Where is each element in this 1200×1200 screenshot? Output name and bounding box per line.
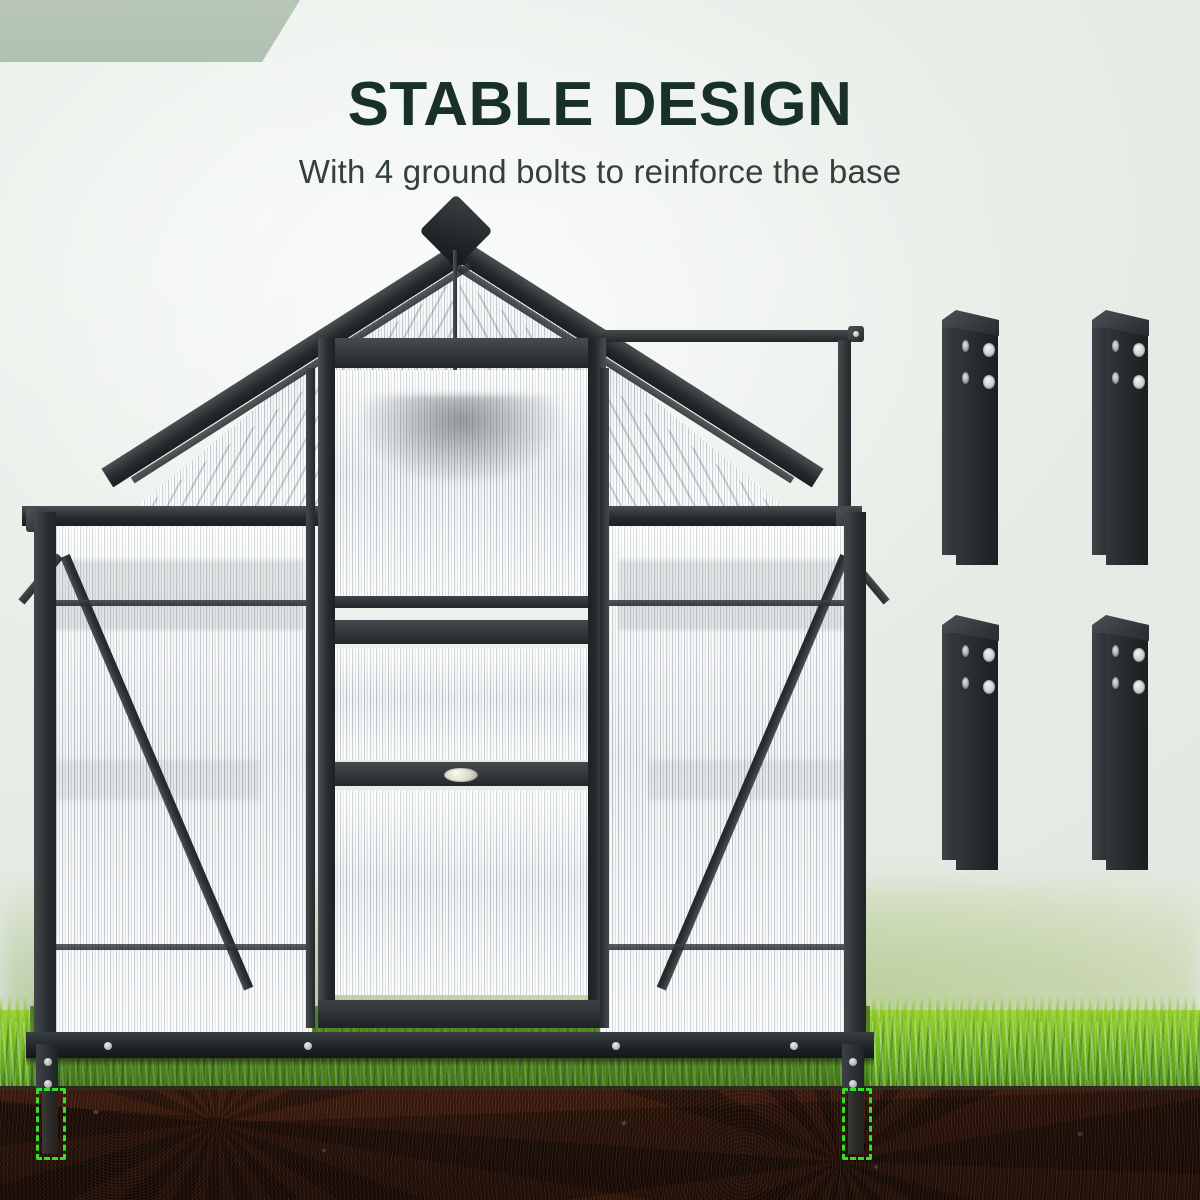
product-image-canvas: STABLE DESIGN With 4 ground bolts to rei…: [0, 0, 1200, 1200]
bolt-hole: [1133, 343, 1145, 357]
base-screw: [104, 1042, 112, 1050]
base-screw: [790, 1042, 798, 1050]
soil-texture: [0, 1090, 1200, 1200]
corner-post-right: [844, 512, 866, 1042]
bolt-front-face: [956, 320, 998, 565]
bolt-hole: [1112, 372, 1119, 384]
anchor-leg-screw: [44, 1080, 52, 1088]
wall-low-rail-right: [600, 944, 850, 950]
ground-bolt-anchors: [930, 310, 1180, 880]
bolt-hole: [983, 648, 995, 662]
door-rail-upper: [322, 596, 602, 608]
anchor-leg-screw: [849, 1080, 857, 1088]
ridge-beam-extension: [600, 330, 862, 342]
base-rail-shadow: [26, 1058, 874, 1066]
bolt-hole: [962, 645, 969, 657]
bolt-front-face: [1106, 320, 1148, 565]
buried-anchor-highlight-left: [36, 1088, 66, 1160]
door-stile-left: [318, 338, 335, 1028]
ground-bolt-3: [942, 615, 999, 860]
base-screw: [304, 1042, 312, 1050]
corner-post-left: [34, 512, 56, 1042]
door-pane-lower: [334, 790, 588, 995]
anchor-leg-screw: [44, 1058, 52, 1066]
bolt-front-face: [956, 625, 998, 870]
base-screw: [612, 1042, 620, 1050]
bolt-hole: [1112, 677, 1119, 689]
bolt-hole: [1112, 645, 1119, 657]
bolt-hole: [1112, 340, 1119, 352]
door-pane-top-reflection: [340, 395, 582, 525]
bolt-hole: [1133, 375, 1145, 389]
wall-mid-rail-right: [600, 600, 850, 606]
ridge-beam-endcap-bolt: [853, 331, 859, 337]
bolt-hole: [962, 340, 969, 352]
bolt-front-face: [1106, 625, 1148, 870]
ridge-beam-post: [838, 340, 851, 515]
brand-plate: [444, 768, 478, 782]
buried-anchor-highlight-right: [842, 1088, 872, 1160]
bolt-hole: [983, 680, 995, 694]
base-rail: [26, 1032, 874, 1058]
bolt-hole: [962, 372, 969, 384]
bolt-side-face: [1092, 328, 1107, 555]
bolt-hole: [983, 343, 995, 357]
door-rail-mid: [318, 620, 606, 644]
door-head-beam: [318, 338, 606, 368]
anchor-leg-screw: [849, 1058, 857, 1066]
wall-mid-rail-left: [50, 600, 312, 606]
ground-bolt-4: [1092, 615, 1149, 860]
bolt-hole: [983, 375, 995, 389]
door-pane-middle: [334, 648, 588, 760]
ground-bolt-2: [1092, 310, 1149, 555]
ground-bolt-1: [942, 310, 999, 555]
door-jamb-right: [600, 368, 609, 1028]
bolt-side-face: [942, 328, 957, 555]
bolt-side-face: [942, 633, 957, 860]
bolt-hole: [962, 677, 969, 689]
bolt-side-face: [1092, 633, 1107, 860]
wall-low-rail-left: [50, 944, 312, 950]
walk-in-greenhouse: [0, 0, 900, 1100]
door-jamb-left: [306, 368, 315, 1028]
bolt-hole: [1133, 680, 1145, 694]
bolt-hole: [1133, 648, 1145, 662]
door-threshold-rail: [318, 1000, 606, 1028]
